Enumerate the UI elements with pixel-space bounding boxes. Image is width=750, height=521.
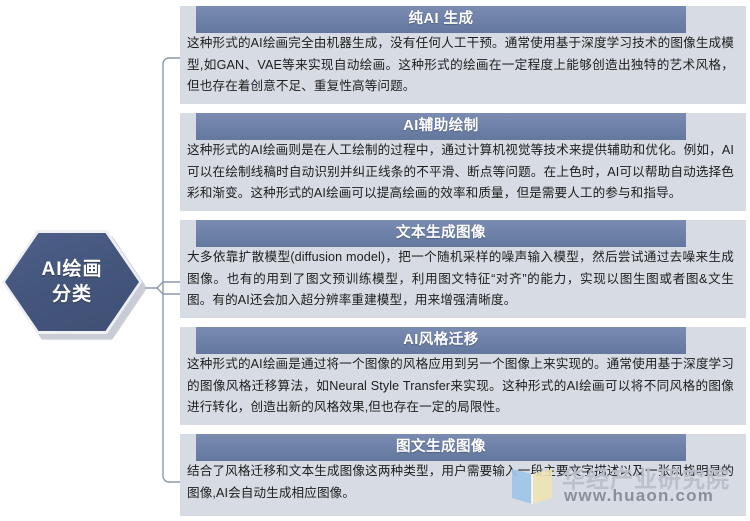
branch-panel-pure-ai-generation[interactable]: 纯AI 生成 这种形式的AI绘画完全由机器生成，没有任何人工干预。通常使用基于深…: [180, 6, 746, 104]
connector-spine: [163, 58, 169, 482]
branch-body-text: 这种形式的AI绘画完全由机器生成，没有任何人工干预。通常使用基于深度学习技术的图…: [187, 36, 734, 93]
diagram-canvas: AI绘画 分类 纯AI 生成 这种形式的AI绘画完全由机器生成，没有任何人工干预…: [0, 0, 750, 521]
branch-body: 这种形式的AI绘画则是在人工绘制的过程中，通过计算机视觉等技术来提供辅助和优化。…: [180, 113, 746, 214]
branch-panel-image-text-to-image[interactable]: 图文生成图像 结合了风格迁移和文本生成图像这两种类型，用户需要输入一段主要文字描…: [180, 434, 746, 516]
branch-panel-ai-assisted-drawing[interactable]: AI辅助绘制 这种形式的AI绘画则是在人工绘制的过程中，通过计算机视觉等技术来提…: [180, 113, 746, 211]
header-spacer: [187, 440, 734, 461]
connector-kink-bottom: [157, 288, 163, 294]
branch-body-text: 这种形式的AI绘画则是在人工绘制的过程中，通过计算机视觉等技术来提供辅助和优化。…: [187, 143, 734, 200]
branch-body: 这种形式的AI绘画是通过将一个图像的风格应用到另一个图像上来实现的。通常使用基于…: [180, 327, 746, 428]
branch-body: 大多依靠扩散模型(diffusion model)，把一个随机采样的噪声输入模型…: [180, 220, 746, 321]
branch-body-text: 大多依靠扩散模型(diffusion model)，把一个随机采样的噪声输入模型…: [187, 250, 734, 307]
header-spacer: [187, 119, 734, 140]
header-spacer: [187, 226, 734, 247]
connector-kink-top: [157, 282, 163, 288]
branch-body: 结合了风格迁移和文本生成图像这两种类型，用户需要输入一段主要文字描述以及一张风格…: [180, 434, 746, 513]
root-node-ai-painting-classification[interactable]: AI绘画 分类: [2, 230, 148, 342]
branch-body-text: 结合了风格迁移和文本生成图像这两种类型，用户需要输入一段主要文字描述以及一张风格…: [187, 464, 734, 500]
header-spacer: [187, 333, 734, 354]
branch-panel-ai-style-transfer[interactable]: AI风格迁移 这种形式的AI绘画是通过将一个图像的风格应用到另一个图像上来实现的…: [180, 327, 746, 425]
branch-body: 这种形式的AI绘画完全由机器生成，没有任何人工干预。通常使用基于深度学习技术的图…: [180, 6, 746, 107]
branch-panel-text-to-image[interactable]: 文本生成图像 大多依靠扩散模型(diffusion model)，把一个随机采样…: [180, 220, 746, 318]
header-spacer: [187, 12, 734, 33]
root-node-label-line2: 分类: [52, 282, 92, 307]
branch-body-text: 这种形式的AI绘画是通过将一个图像的风格应用到另一个图像上来实现的。通常使用基于…: [187, 357, 734, 414]
root-node-label: AI绘画 分类: [5, 233, 139, 331]
root-node-label-line1: AI绘画: [41, 257, 102, 282]
